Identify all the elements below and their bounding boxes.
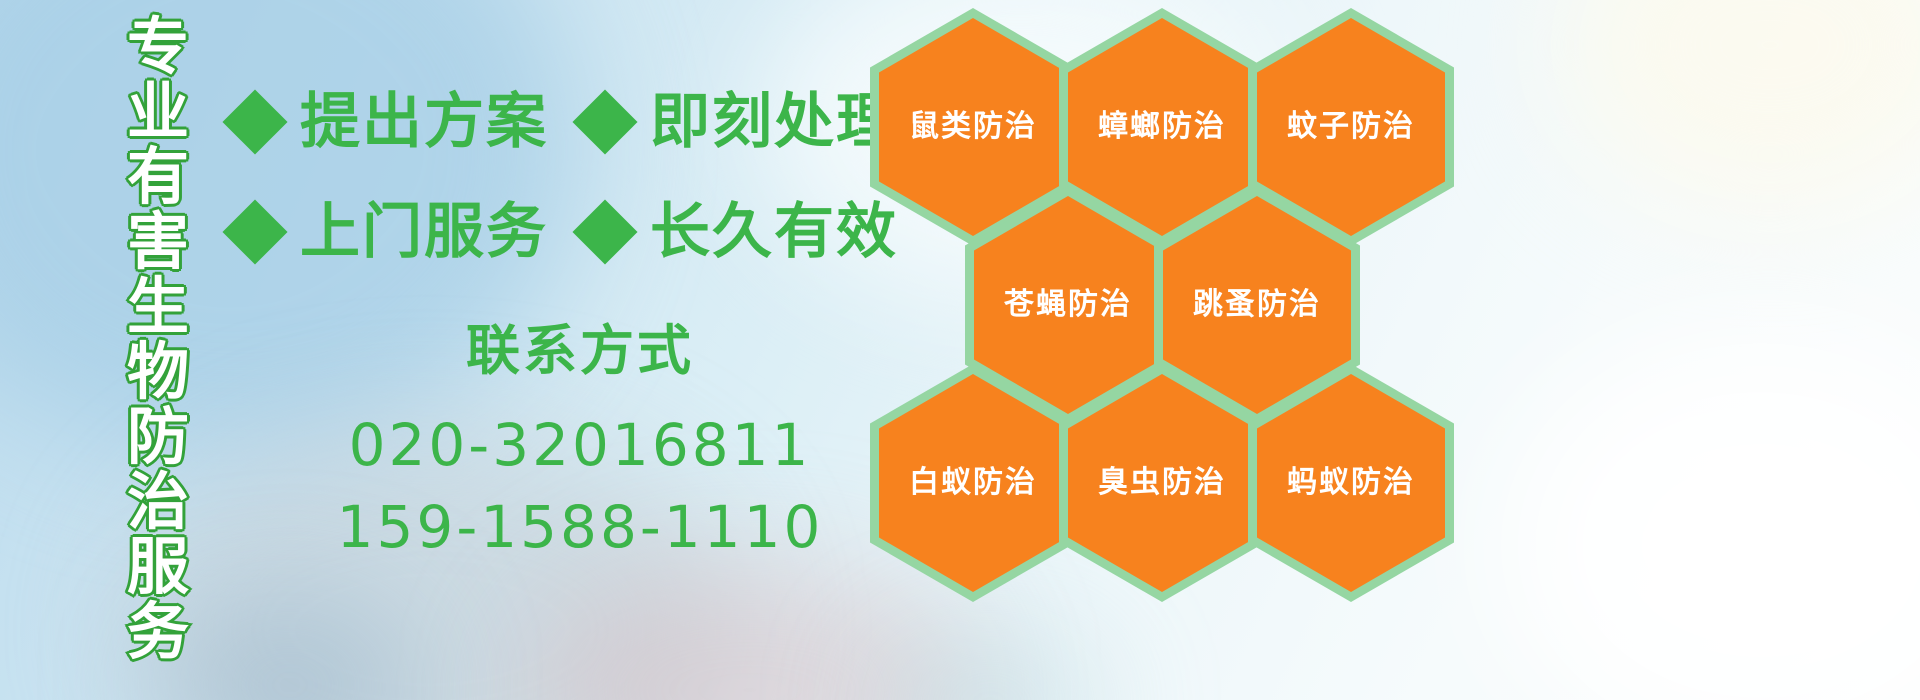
- service-hex-label: 蚊子防治: [1287, 110, 1415, 144]
- service-hex-label: 白蚁防治: [909, 466, 1037, 500]
- vertical-headline-char: 专: [127, 14, 189, 79]
- slogan-row-2: 上门服务 长久有效: [232, 196, 898, 268]
- vertical-headline: 专 业 有 害 生 物 防 治 服 务: [110, 14, 206, 684]
- service-hex-label: 蟑螂防治: [1098, 110, 1226, 144]
- slogan-label: 上门服务: [300, 196, 548, 268]
- slogan-label: 长久有效: [650, 196, 898, 268]
- vertical-headline-char: 服: [127, 534, 189, 599]
- service-hex-label: 苍蝇防治: [1004, 288, 1132, 322]
- background-blob: [1500, 330, 1920, 700]
- slogan-label: 即刻处理: [650, 86, 898, 158]
- slogan-item: 上门服务: [232, 196, 548, 268]
- service-hex-label: 蚂蚁防治: [1287, 466, 1415, 500]
- diamond-bullet-icon: [222, 89, 287, 154]
- vertical-headline-char: 害: [127, 209, 189, 274]
- service-hex-label: 跳蚤防治: [1193, 288, 1321, 322]
- service-hex-label: 鼠类防治: [909, 110, 1037, 144]
- service-hex-label: 臭虫防治: [1098, 466, 1226, 500]
- vertical-headline-char: 业: [127, 79, 189, 144]
- vertical-headline-char: 物: [127, 339, 189, 404]
- service-hex-inner: 臭虫防治: [1068, 374, 1256, 592]
- vertical-headline-char: 有: [127, 144, 189, 209]
- slogan-item: 即刻处理: [582, 86, 898, 158]
- mobile-phone-number[interactable]: 159-1588-1110: [300, 488, 860, 566]
- vertical-headline-char: 生: [127, 274, 189, 339]
- vertical-headline-char: 防: [127, 404, 189, 469]
- contact-block: 联系方式 020-32016811 159-1588-1110: [300, 316, 860, 566]
- landline-phone-number[interactable]: 020-32016811: [300, 406, 860, 484]
- diamond-bullet-icon: [222, 199, 287, 264]
- diamond-bullet-icon: [572, 89, 637, 154]
- slogan-label: 提出方案: [300, 86, 548, 158]
- vertical-headline-char: 治: [127, 469, 189, 534]
- vertical-headline-char: 务: [127, 599, 189, 664]
- slogan-item: 提出方案: [232, 86, 548, 158]
- contact-label: 联系方式: [300, 316, 860, 386]
- background-blob: [1560, 0, 1920, 210]
- service-hex-inner: 白蚁防治: [879, 374, 1067, 592]
- service-honeycomb: 鼠类防治 蟑螂防治 蚊子防治 苍蝇防治 跳蚤防治 白蚁防治: [862, 0, 1462, 700]
- service-hex-inner: 蚂蚁防治: [1257, 374, 1445, 592]
- diamond-bullet-icon: [572, 199, 637, 264]
- slogan-row-1: 提出方案 即刻处理: [232, 86, 898, 158]
- promo-banner: 专 业 有 害 生 物 防 治 服 务 提出方案 即刻处理 上门服务 长久有效: [0, 0, 1920, 700]
- slogan-item: 长久有效: [582, 196, 898, 268]
